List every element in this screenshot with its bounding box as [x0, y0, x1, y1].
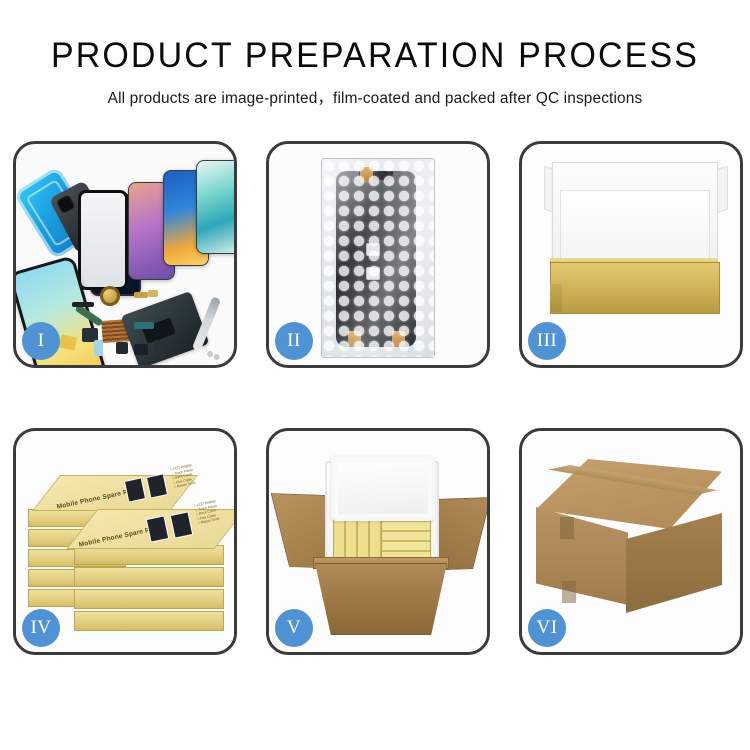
step-badge-3: III: [528, 322, 566, 360]
box-checklist-rear: LCD Display Touch Panel Back Cover Flex …: [170, 463, 196, 490]
foam-sheet: [560, 190, 710, 264]
process-step-panel-4[interactable]: Mobile Phone Spare Parts LCD Display Tou…: [13, 428, 237, 655]
component-chip: [134, 292, 148, 298]
packed-boxes-block: [381, 515, 431, 561]
box-side-fold: [550, 284, 562, 312]
stacked-box: [74, 611, 224, 631]
component-chip: [134, 344, 148, 355]
step-badge-1: I: [22, 322, 60, 360]
step-badge-6: VI: [528, 609, 566, 647]
box-checklist-front: LCD Display Touch Panel Back Cover Flex …: [194, 499, 220, 526]
step-badge-4: IV: [22, 609, 60, 647]
process-step-panel-5[interactable]: V: [266, 428, 490, 655]
component-chip: [154, 340, 165, 349]
bubble-wrap-bag: [321, 158, 435, 358]
component-chip: [134, 322, 154, 329]
component-chip: [116, 342, 128, 354]
process-step-panel-1[interactable]: I: [13, 141, 237, 368]
carton-front-panel: [315, 563, 447, 635]
stacked-box: [74, 589, 224, 609]
component-chip: [72, 302, 94, 307]
process-step-panel-2[interactable]: II: [266, 141, 490, 368]
plastic-sheen: [322, 159, 434, 357]
phone-display-teal: [196, 160, 234, 254]
carton-corner-seam-top: [560, 517, 574, 539]
page-subtitle: All products are image-printed，film-coat…: [0, 86, 750, 108]
speaker-coil-graphic: [100, 286, 120, 306]
stacked-box: [74, 567, 224, 587]
component-chip: [94, 340, 103, 356]
process-step-panel-6[interactable]: VI: [519, 428, 743, 655]
step-badge-5: V: [275, 609, 313, 647]
header: PRODUCT PREPARATION PROCESS All products…: [0, 0, 750, 108]
process-panel-grid: I II: [13, 141, 737, 655]
kraft-box-body: [550, 262, 720, 314]
component-chip: [148, 290, 158, 297]
styrofoam-lid: [331, 455, 435, 521]
step-badge-2: II: [275, 322, 313, 360]
front-glass-panel-graphic: [78, 190, 128, 290]
carton-corner-seam-bottom: [562, 581, 576, 603]
page-title: PRODUCT PREPARATION PROCESS: [11, 38, 739, 75]
screws-graphic: [206, 350, 220, 360]
process-step-panel-3[interactable]: III: [519, 141, 743, 368]
